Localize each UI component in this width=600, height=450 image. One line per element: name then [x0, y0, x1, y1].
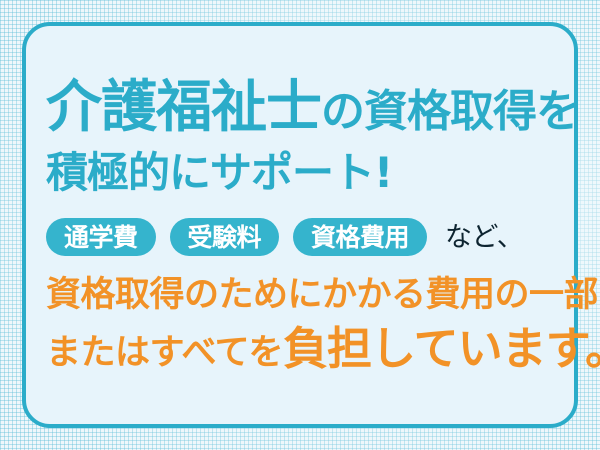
body-text-line-1: 資格取得のためにかかる費用の一部	[46, 278, 598, 313]
headline-line-1: 介護福祉士の資格取得を	[46, 80, 579, 136]
headline-line-2: 積極的にサポート!	[46, 152, 392, 194]
body-text-lead: またはすべてを	[46, 333, 283, 373]
headline-keyword: 介護福祉士	[46, 75, 321, 140]
banner-content: 介護福祉士の資格取得を 積極的にサポート! 通学費 受験料 資格費用 など、 資…	[0, 0, 600, 450]
pill-badge-exam-fee: 受験料	[170, 218, 280, 256]
pill-row-suffix: など、	[445, 224, 523, 251]
headline-keyword-tail: の資格取得を	[321, 86, 579, 137]
pill-badge-certification-cost: 資格費用	[293, 218, 427, 256]
promo-banner: 介護福祉士の資格取得を 積極的にサポート! 通学費 受験料 資格費用 など、 資…	[0, 0, 600, 450]
cost-pill-row: 通学費 受験料 資格費用 など、	[46, 218, 523, 256]
body-text-emphasis: 負担しています。	[283, 322, 600, 375]
pill-badge-tuition: 通学費	[46, 218, 156, 256]
body-text-line-2: またはすべてを負担しています。	[46, 326, 600, 371]
